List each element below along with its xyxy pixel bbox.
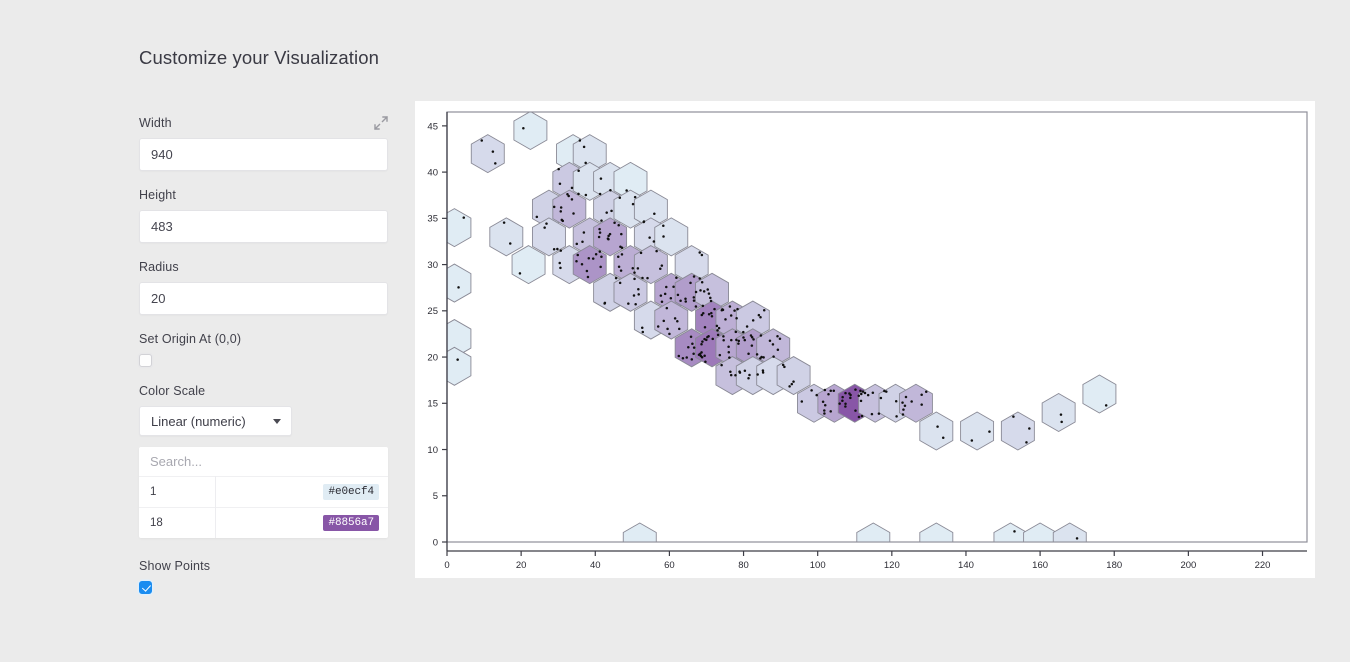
svg-text:80: 80 [738,560,749,571]
width-label: Width [139,116,172,130]
svg-text:15: 15 [427,399,438,410]
show-points-label: Show Points [139,559,388,573]
color-row-value-cell: #8856a7 [222,508,388,539]
visualization-card: 0204060801001201401601802002200510152025… [415,101,1315,578]
color-mapping-panel: Search... 1 #e0ecf4 18 #8856a7 [139,447,388,538]
height-label: Height [139,188,388,202]
table-row[interactable]: 18 #8856a7 [139,508,388,539]
color-scale-select[interactable]: Linear (numeric) [139,406,292,436]
svg-text:0: 0 [433,537,438,548]
color-scale-label: Color Scale [139,384,388,398]
svg-text:40: 40 [427,168,438,179]
svg-text:10: 10 [427,445,438,456]
show-points-group: Show Points [139,559,388,594]
svg-text:140: 140 [958,560,974,571]
color-search-input[interactable]: Search... [139,447,388,476]
height-field-group: Height [139,188,388,243]
svg-text:35: 35 [427,214,438,225]
color-mapping-table: 1 #e0ecf4 18 #8856a7 [139,476,388,538]
svg-text:45: 45 [427,121,438,132]
color-row-key: 1 [139,477,216,508]
svg-text:60: 60 [664,560,675,571]
svg-text:0: 0 [444,560,449,571]
svg-text:5: 5 [433,491,438,502]
radius-label: Radius [139,260,388,274]
expand-arrows-icon[interactable] [374,116,388,130]
radius-field-group: Radius [139,260,388,315]
width-input[interactable] [139,138,388,171]
set-origin-checkbox[interactable] [139,354,152,367]
color-scale-select-wrap: Linear (numeric) [139,406,292,436]
svg-text:100: 100 [810,560,826,571]
svg-text:40: 40 [590,560,601,571]
color-swatch[interactable]: #e0ecf4 [323,484,379,500]
customize-sidebar: Width Height Radius Set Origin At (0,0) … [139,116,388,594]
svg-text:20: 20 [516,560,527,571]
table-row[interactable]: 1 #e0ecf4 [139,477,388,508]
svg-text:180: 180 [1106,560,1122,571]
width-label-row: Width [139,116,388,130]
svg-text:220: 220 [1255,560,1271,571]
width-field-group: Width [139,116,388,171]
svg-text:160: 160 [1032,560,1048,571]
show-points-checkbox[interactable] [139,581,152,594]
svg-text:200: 200 [1180,560,1196,571]
color-scale-group: Color Scale Linear (numeric) Search... 1… [139,384,388,538]
set-origin-group: Set Origin At (0,0) [139,332,388,367]
svg-text:120: 120 [884,560,900,571]
height-input[interactable] [139,210,388,243]
svg-text:25: 25 [427,306,438,317]
svg-text:30: 30 [427,260,438,271]
color-row-key: 18 [139,508,216,539]
color-swatch[interactable]: #8856a7 [323,515,379,531]
hexbin-chart[interactable]: 0204060801001201401601802002200510152025… [415,101,1315,578]
color-row-value-cell: #e0ecf4 [222,477,388,508]
svg-text:20: 20 [427,352,438,363]
page-title: Customize your Visualization [139,47,379,69]
radius-input[interactable] [139,282,388,315]
set-origin-label: Set Origin At (0,0) [139,332,388,346]
